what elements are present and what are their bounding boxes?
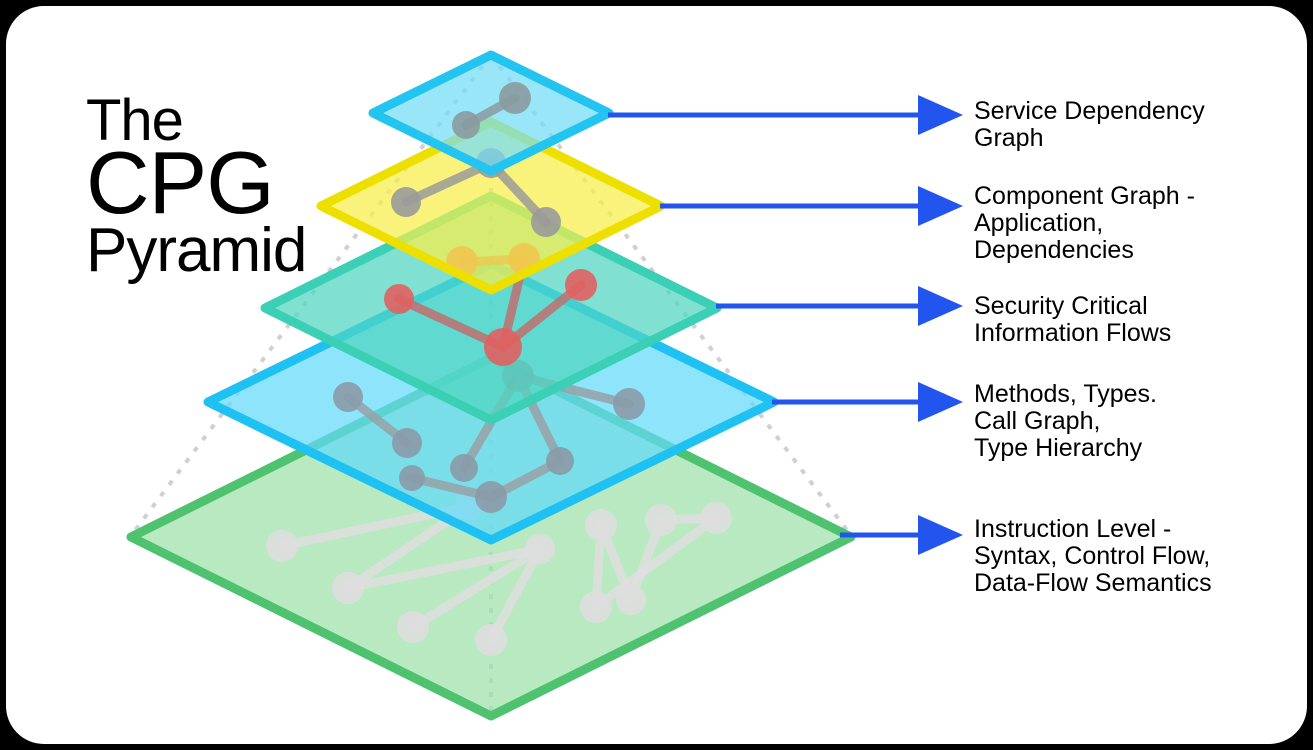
callout-label-methods-types: Methods, Types. Call Graph, Type Hierarc… bbox=[974, 381, 1157, 462]
poster-canvas: The CPG Pyramid Service Dependency Graph… bbox=[6, 6, 1307, 744]
graph-node[interactable] bbox=[613, 388, 645, 420]
graph-node[interactable] bbox=[546, 447, 574, 475]
graph-node[interactable] bbox=[565, 269, 597, 301]
graph-node[interactable] bbox=[645, 504, 677, 536]
graph-node[interactable] bbox=[399, 465, 425, 491]
graph-node[interactable] bbox=[397, 611, 429, 643]
title-line-pyramid: Pyramid bbox=[86, 222, 306, 279]
graph-node[interactable] bbox=[392, 428, 422, 458]
callout-label-service-dependency-graph: Service Dependency Graph bbox=[974, 98, 1205, 152]
graph-node[interactable] bbox=[452, 111, 480, 139]
graph-node[interactable] bbox=[499, 82, 531, 114]
graph-node[interactable] bbox=[332, 572, 364, 604]
graph-node[interactable] bbox=[580, 591, 612, 623]
graph-node[interactable] bbox=[475, 481, 507, 513]
graph-node[interactable] bbox=[333, 382, 363, 412]
callout-label-component-graph: Component Graph - Application, Dependenc… bbox=[974, 183, 1195, 264]
graph-node[interactable] bbox=[525, 534, 555, 564]
page-title: The CPG Pyramid bbox=[86, 94, 306, 279]
layer-service[interactable] bbox=[373, 55, 609, 171]
graph-node[interactable] bbox=[266, 530, 298, 562]
graph-node[interactable] bbox=[484, 328, 522, 366]
title-line-cpg: CPG bbox=[86, 143, 306, 224]
callout-label-instruction-level: Instruction Level - Syntax, Control Flow… bbox=[974, 516, 1212, 597]
poster-frame: The CPG Pyramid Service Dependency Graph… bbox=[0, 0, 1313, 750]
callout-label-security-critical-information-flows: Security Critical Information Flows bbox=[974, 293, 1171, 347]
graph-node[interactable] bbox=[616, 585, 646, 615]
graph-node[interactable] bbox=[384, 284, 414, 314]
graph-node[interactable] bbox=[450, 454, 478, 482]
graph-node[interactable] bbox=[475, 624, 507, 656]
graph-node[interactable] bbox=[531, 207, 561, 237]
graph-node[interactable] bbox=[700, 502, 732, 534]
graph-node[interactable] bbox=[585, 509, 617, 541]
graph-node[interactable] bbox=[391, 187, 421, 217]
